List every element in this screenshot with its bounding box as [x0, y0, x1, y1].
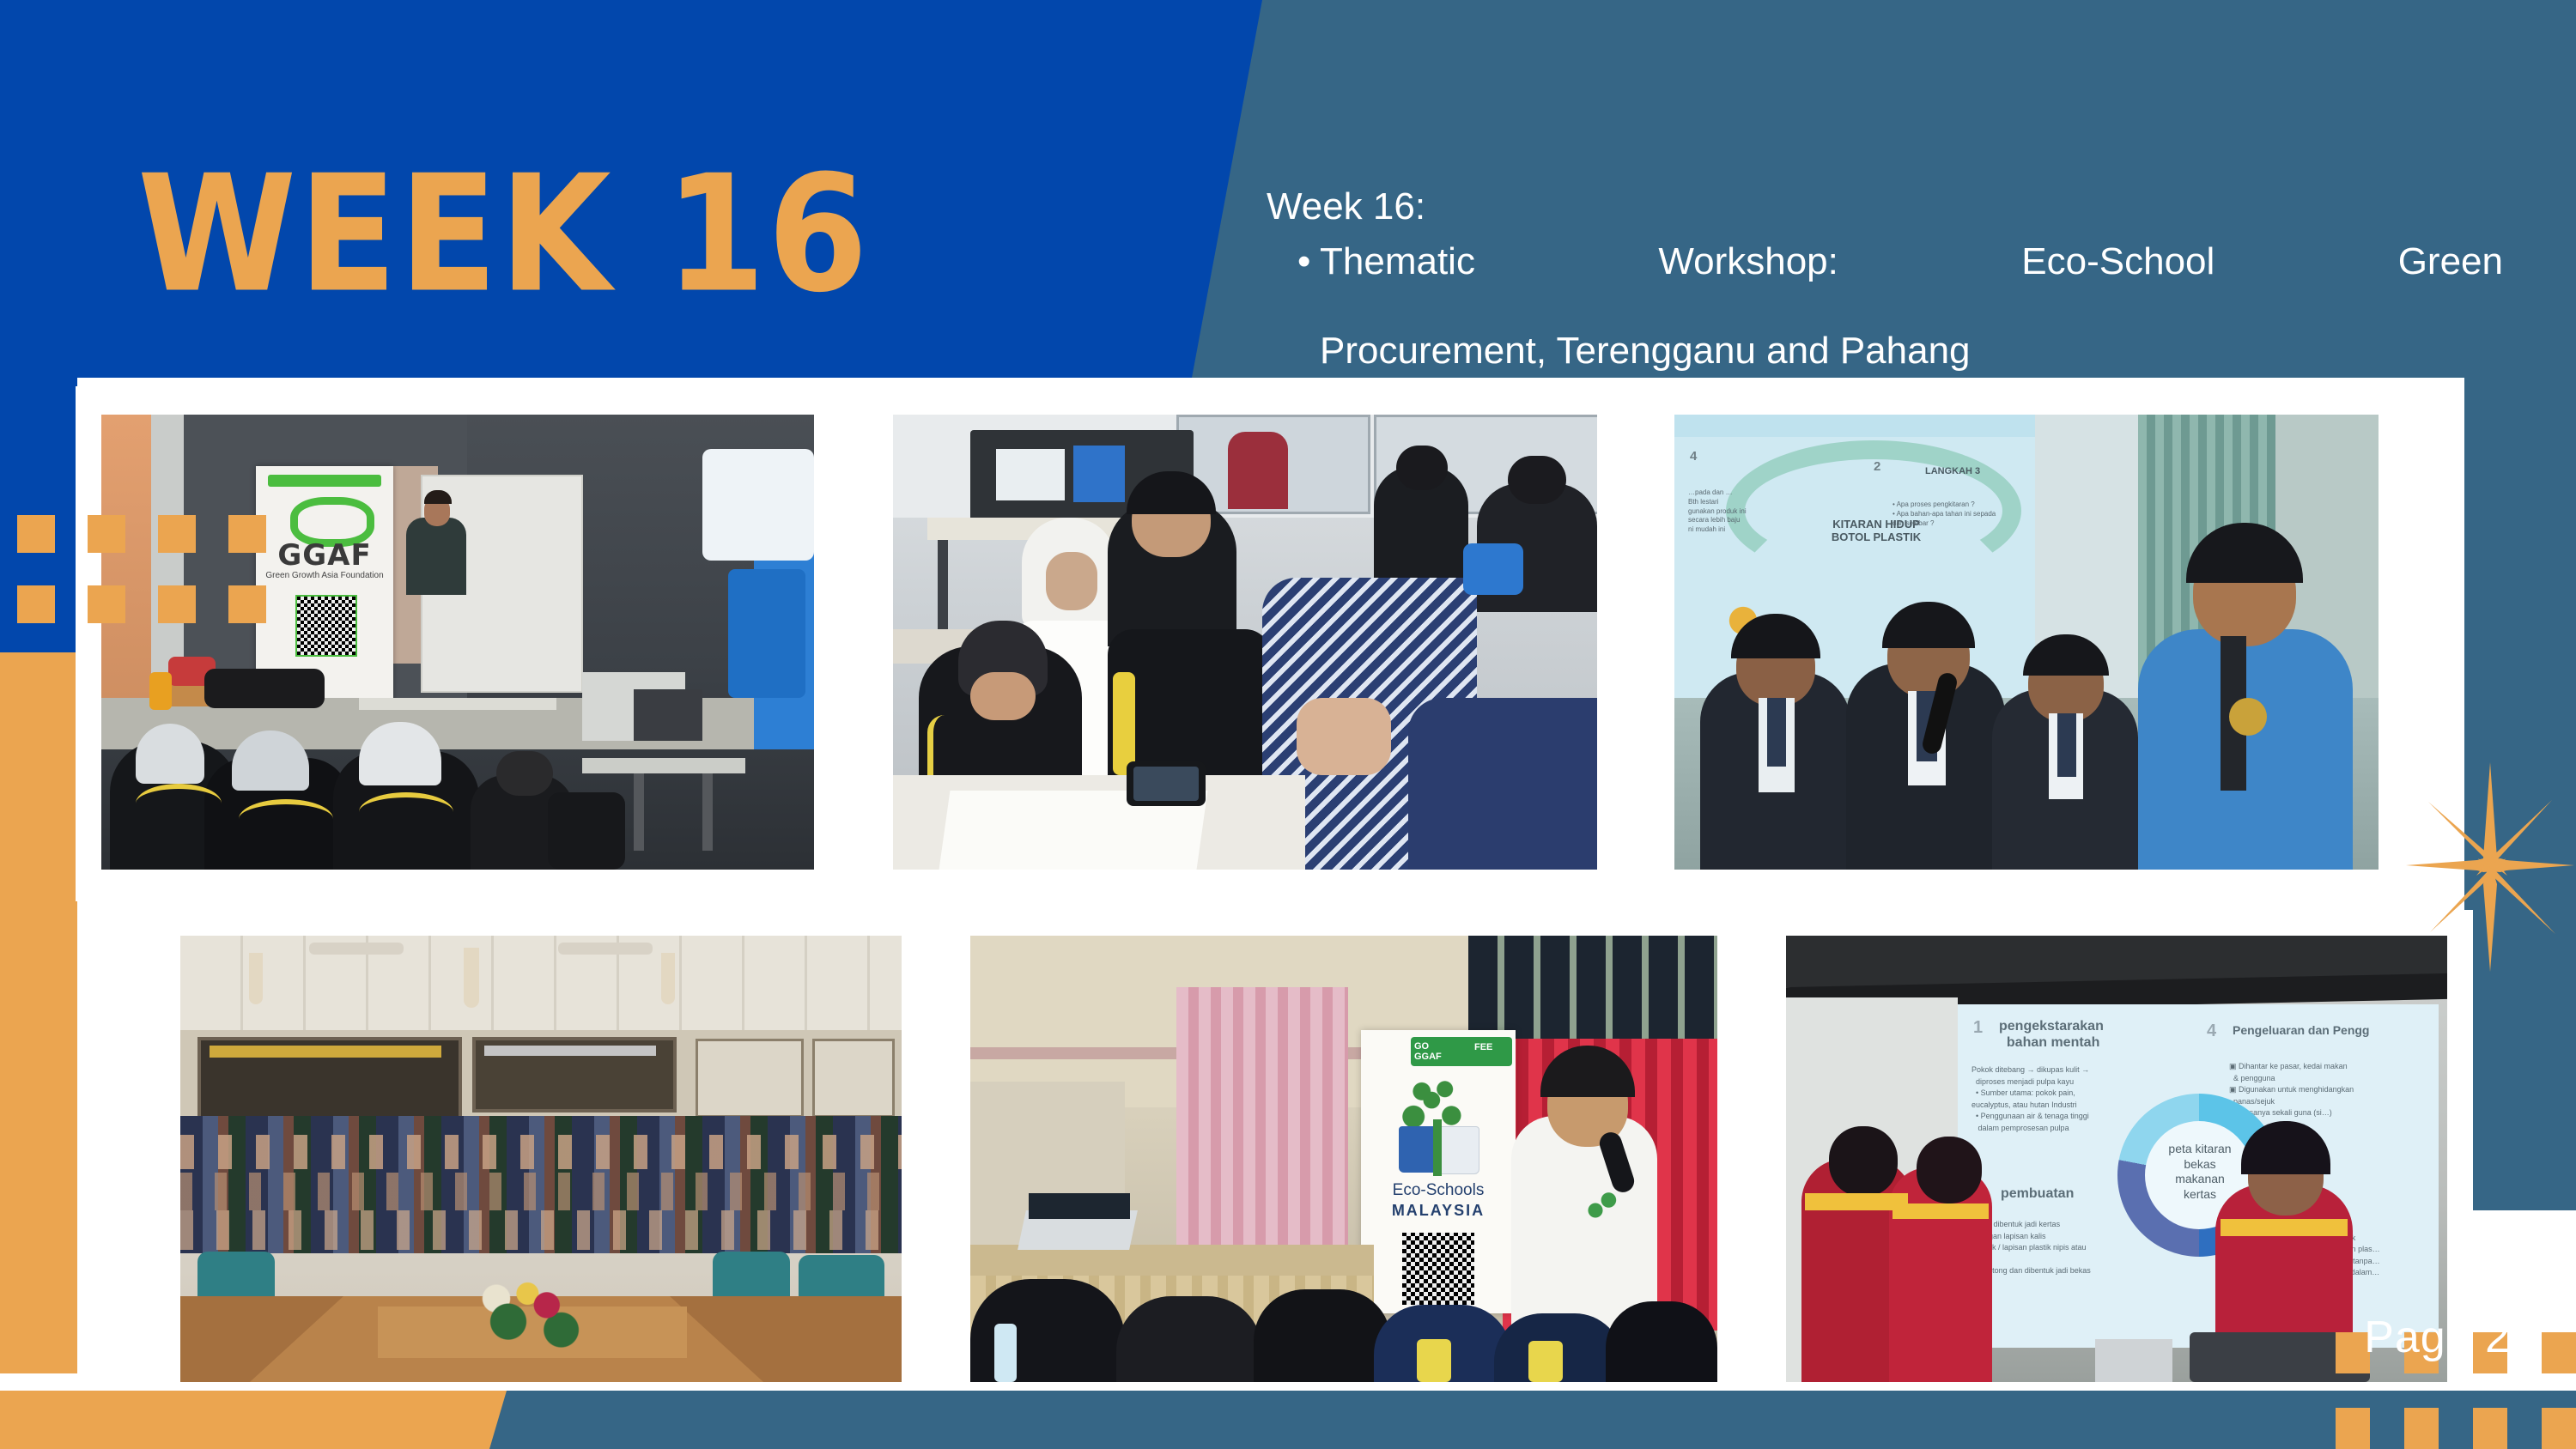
dot: [88, 515, 125, 553]
dot: [17, 585, 55, 623]
photo-ecoschools-talk: GOGGAF FEE Eco-Schools MALAYSIA: [970, 936, 1717, 1382]
dot: [2473, 1408, 2507, 1449]
header-intro: Week 16:: [1267, 185, 2503, 229]
photo-students-table: [893, 415, 1597, 870]
page-title: WEEK 16: [137, 155, 870, 316]
dot: [2336, 1408, 2370, 1449]
header-bullet-line-1: Thematic Workshop: Eco-School Green: [1320, 239, 2503, 329]
bullet-icon: •: [1297, 239, 1320, 373]
header-text-block: Week 16: • Thematic Workshop: Eco-School…: [1267, 185, 2503, 373]
dot: [17, 515, 55, 553]
photo-mic-students: KITARAN HIDUPBOTOL PLASTIK LANGKAH 3 4 2…: [1674, 415, 2379, 870]
photo-poster-presentation: 1 pengekstarakan bahan mentah 4 Pengelua…: [1786, 936, 2447, 1382]
dot: [88, 585, 125, 623]
dot: [228, 585, 266, 623]
photo-ggaf-classroom: GGAF Green Growth Asia Foundation: [101, 415, 814, 870]
dot: [158, 585, 196, 623]
dot-grid-left: [17, 515, 266, 623]
bottom-bar-orange-segment: [0, 1391, 515, 1449]
background-orange-left-strip: [0, 652, 77, 1373]
dot: [2542, 1332, 2576, 1373]
page-number: Page 2: [2364, 1312, 2511, 1363]
header-bullet-text: Thematic Workshop: Eco-School Green Proc…: [1320, 239, 2503, 373]
dot: [228, 515, 266, 553]
slide-canvas: WEEK 16 Week 16: • Thematic Workshop: Ec…: [0, 0, 2576, 1449]
photo-group-hall: [180, 936, 902, 1382]
header-bullet-line-2: Procurement, Terengganu and Pahang: [1320, 329, 2503, 373]
header-bullet-item: • Thematic Workshop: Eco-School Green Pr…: [1297, 239, 2503, 373]
dot: [2542, 1408, 2576, 1449]
dot: [158, 515, 196, 553]
sparkle-star-icon: [2404, 755, 2576, 979]
dot: [2404, 1408, 2439, 1449]
